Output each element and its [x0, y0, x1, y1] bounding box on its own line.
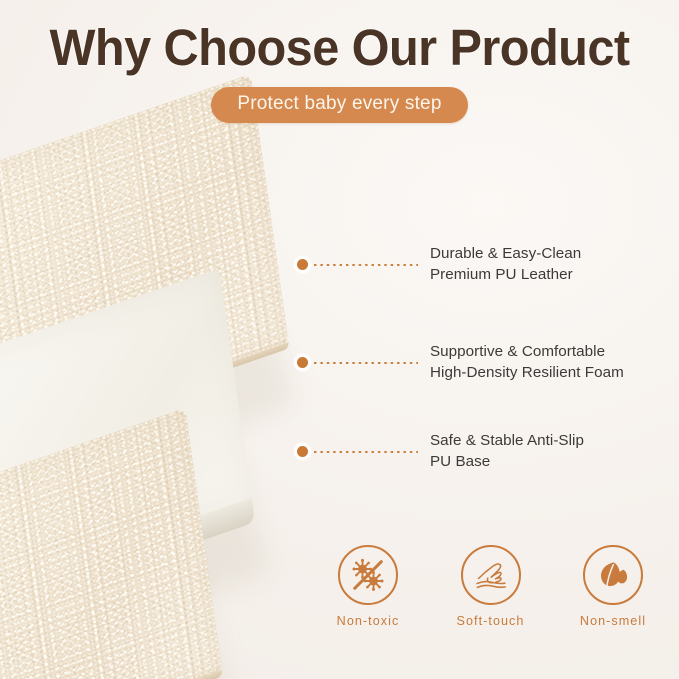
- feature-non-toxic: Non-toxic: [318, 545, 418, 628]
- feature-label: Non-smell: [563, 614, 663, 628]
- header: Why Choose Our Product Protect baby ever…: [0, 0, 679, 123]
- feature-ring: [338, 545, 398, 605]
- callout-line-1: Durable & Easy-Clean: [430, 244, 581, 265]
- callout-safe-stable-anti-slip: Safe & Stable Anti-Slip PU Base: [297, 431, 584, 472]
- callout-dot-icon: [297, 446, 308, 457]
- callout-dot-icon: [297, 357, 308, 368]
- callout-line-1: Safe & Stable Anti-Slip: [430, 431, 584, 452]
- leaves-icon: [593, 555, 633, 595]
- callout-text: Supportive & Comfortable High-Density Re…: [430, 342, 624, 383]
- callout-dot-icon: [297, 259, 308, 270]
- callout-line-1: Supportive & Comfortable: [430, 342, 624, 363]
- feature-label: Soft-touch: [441, 614, 541, 628]
- leader-line: [314, 451, 418, 453]
- callout-line-2: High-Density Resilient Foam: [430, 363, 624, 384]
- feature-label: Non-toxic: [318, 614, 418, 628]
- callout-line-2: PU Base: [430, 452, 584, 473]
- page-title: Why Choose Our Product: [15, 21, 663, 74]
- hand-pressing-surface-icon: [470, 554, 512, 596]
- tagline-badge: Protect baby every step: [211, 87, 467, 123]
- callout-text: Durable & Easy-Clean Premium PU Leather: [430, 244, 581, 285]
- product-layer-stack: [0, 130, 354, 670]
- badge-container: Protect baby every step: [0, 87, 679, 123]
- callout-text: Safe & Stable Anti-Slip PU Base: [430, 431, 584, 472]
- callout-line-2: Premium PU Leather: [430, 265, 581, 286]
- feature-badge-row: Non-toxic Soft-touch: [318, 545, 663, 628]
- callout-supportive-comfortable: Supportive & Comfortable High-Density Re…: [297, 342, 624, 383]
- feature-ring: [461, 545, 521, 605]
- callout-durable-easy-clean: Durable & Easy-Clean Premium PU Leather: [297, 244, 581, 285]
- feature-ring: [583, 545, 643, 605]
- virus-crossed-out-icon: [348, 555, 388, 595]
- feature-soft-touch: Soft-touch: [441, 545, 541, 628]
- feature-non-smell: Non-smell: [563, 545, 663, 628]
- product-infographic: Why Choose Our Product Protect baby ever…: [0, 0, 679, 679]
- leader-line: [314, 362, 418, 364]
- leader-line: [314, 264, 418, 266]
